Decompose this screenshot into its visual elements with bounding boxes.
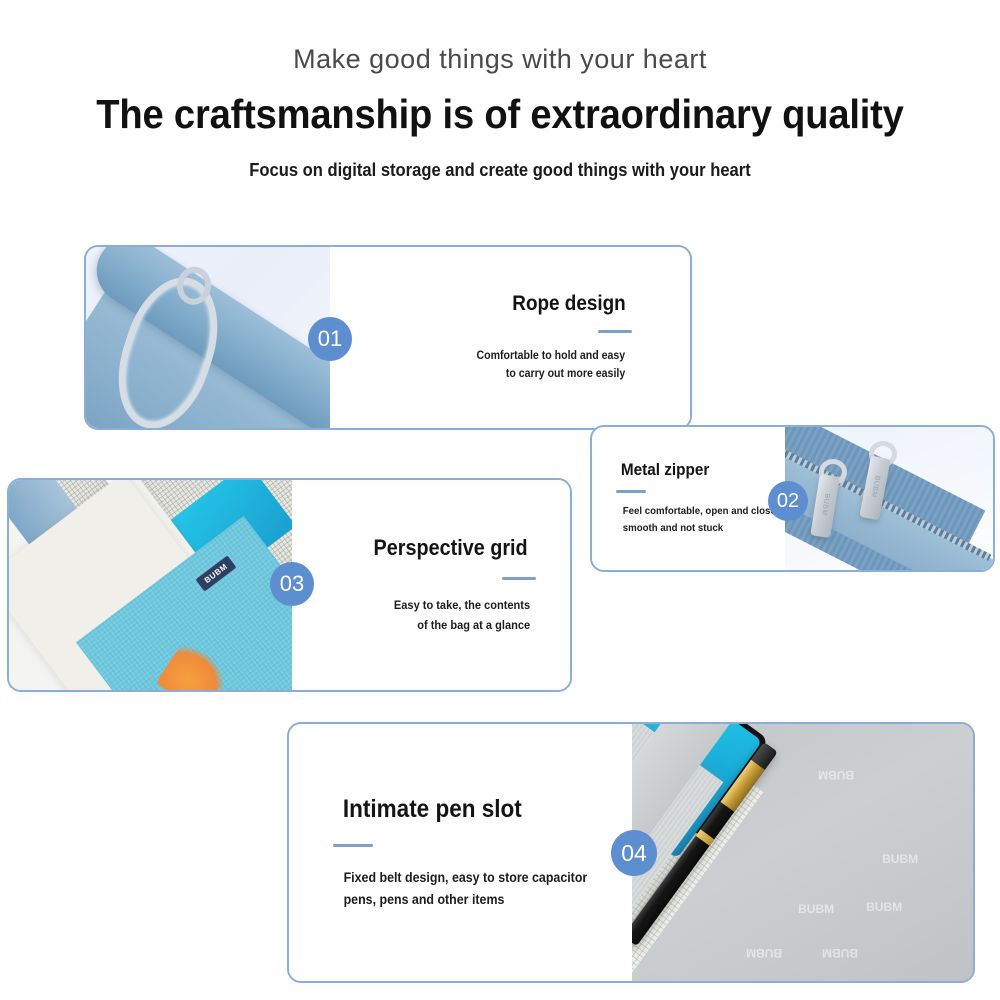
page-title: The craftsmanship is of extraordinary qu… — [35, 91, 965, 138]
zipper-pull-brand-right: BUBM — [869, 472, 881, 501]
watermark-bubm-6: BUBM — [822, 946, 858, 960]
watermark-bubm-5: BUBM — [746, 946, 782, 960]
feature-title: Rope design — [512, 292, 625, 316]
feature-title: Perspective grid — [373, 535, 527, 561]
watermark-bubm-4: BUBM — [866, 900, 902, 914]
feature-description: Easy to take, the contents of the bag at… — [394, 596, 530, 634]
feature-card-pen-slot[interactable]: Intimate pen slot Fixed belt design, eas… — [287, 722, 975, 983]
feature-text-zipper: Metal zipper Feel comfortable, open and … — [592, 427, 785, 570]
watermark-bubm-3: BUBM — [798, 902, 834, 916]
divider-rule — [333, 844, 373, 847]
feature-description: Feel comfortable, open and close, smooth… — [623, 503, 779, 537]
feature-description-line1: Comfortable to hold and easy — [477, 350, 626, 362]
feature-card-metal-zipper[interactable]: Metal zipper Feel comfortable, open and … — [590, 425, 995, 572]
step-badge-02: 02 — [768, 481, 808, 521]
zipper-pull-brand-left: BUBM — [820, 490, 831, 519]
feature-image-zipper: BUBM BUBM — [785, 427, 993, 570]
feature-title: Intimate pen slot — [343, 795, 522, 824]
watermark-bubm-1: BUBM — [818, 768, 854, 782]
feature-card-rope-design[interactable]: Rope design Comfortable to hold and easy… — [84, 245, 692, 430]
header-subtitle: Focus on digital storage and create good… — [40, 160, 960, 181]
feature-description-line1: Fixed belt design, easy to store capacit… — [344, 870, 588, 885]
page-header: Make good things with your heart The cra… — [0, 0, 1000, 181]
feature-description: Comfortable to hold and easy to carry ou… — [477, 347, 626, 384]
header-kicker: Make good things with your heart — [0, 44, 1000, 75]
feature-description-line2: to carry out more easily — [506, 368, 625, 380]
feature-title: Metal zipper — [621, 460, 709, 480]
step-badge-03: 03 — [270, 562, 314, 606]
feature-description-line1: Easy to take, the contents — [394, 598, 530, 612]
divider-rule — [502, 577, 536, 580]
feature-text-rope: Rope design Comfortable to hold and easy… — [330, 247, 690, 428]
feature-image-pen: BUBM BUBM BUBM BUBM BUBM BUBM — [632, 724, 973, 981]
feature-description-line1: Feel comfortable, open and close, — [623, 505, 779, 517]
feature-card-perspective-grid[interactable]: Perspective grid Easy to take, the conte… — [7, 478, 572, 692]
feature-text-mesh: Perspective grid Easy to take, the conte… — [292, 480, 570, 690]
feature-description: Fixed belt design, easy to store capacit… — [344, 867, 588, 910]
feature-description-line2: pens, pens and other items — [344, 892, 505, 907]
feature-image-rope — [86, 247, 330, 428]
watermark-bubm-2: BUBM — [882, 852, 918, 866]
step-badge-01: 01 — [308, 317, 352, 361]
feature-image-mesh — [9, 480, 292, 690]
feature-description-line2: smooth and not stuck — [623, 522, 723, 534]
divider-rule — [616, 490, 646, 493]
feature-text-pen: Intimate pen slot Fixed belt design, eas… — [289, 724, 632, 981]
feature-description-line2: of the bag at a glance — [417, 618, 530, 632]
divider-rule — [598, 330, 632, 333]
orange-item-shape — [156, 640, 236, 690]
step-badge-04: 04 — [611, 830, 657, 876]
